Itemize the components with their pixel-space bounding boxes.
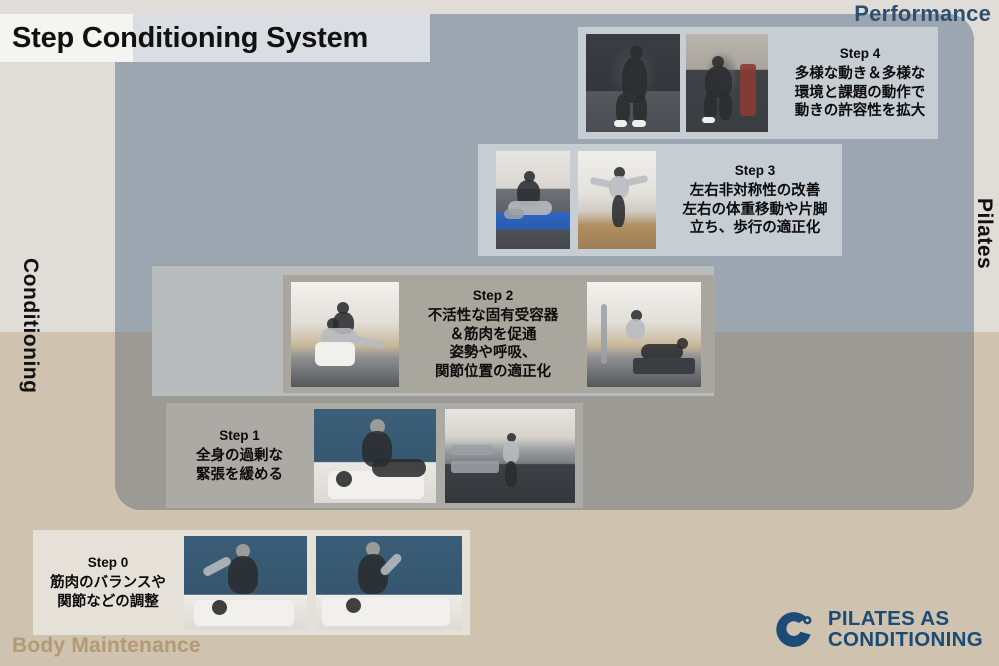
brand-logo: PILATES AS CONDITIONING bbox=[771, 606, 983, 652]
photo-step3-1 bbox=[496, 151, 570, 249]
step3-description: 左右非対称性の改善 左右の体重移動や片脚 立ち、歩行の適正化 bbox=[670, 182, 840, 238]
logo-line-1: PILATES AS bbox=[828, 608, 983, 629]
photo-step4-2 bbox=[686, 34, 768, 132]
step2-text: Step 2 不活性な固有受容器 ＆筋肉を促通 姿勢や呼吸、 関節位置の適正化 bbox=[407, 287, 579, 381]
photo-step2-2 bbox=[587, 282, 701, 387]
step1-text: Step 1 全身の過剰な 緊張を緩める bbox=[174, 427, 305, 484]
step-panel-step3[interactable]: Step 3 左右非対称性の改善 左右の体重移動や片脚 立ち、歩行の適正化 bbox=[478, 144, 842, 256]
step2-description: 不活性な固有受容器 ＆筋肉を促通 姿勢や呼吸、 関節位置の適正化 bbox=[407, 307, 579, 381]
photo-step1-1 bbox=[314, 409, 436, 503]
step2-label: Step 2 bbox=[407, 287, 579, 304]
step4-description: 多様な動き＆多様な 環境と課題の動作で 動きの許容性を拡大 bbox=[782, 65, 938, 121]
step3-text: Step 3 左右非対称性の改善 左右の体重移動や片脚 立ち、歩行の適正化 bbox=[670, 162, 840, 238]
step0-label: Step 0 bbox=[41, 554, 175, 571]
step4-label: Step 4 bbox=[782, 45, 938, 62]
step-panel-step4[interactable]: Step 4 多様な動き＆多様な 環境と課題の動作で 動きの許容性を拡大 bbox=[578, 27, 938, 139]
step1-description: 全身の過剰な 緊張を緩める bbox=[174, 447, 305, 484]
page-title: Step Conditioning System bbox=[12, 14, 442, 62]
logo-c-mark-icon bbox=[771, 606, 817, 652]
axis-label-performance: Performance bbox=[854, 1, 991, 27]
photo-step1-2 bbox=[445, 409, 575, 503]
slide-canvas: Step Conditioning System Performance Pil… bbox=[0, 0, 999, 666]
step-panel-step2[interactable]: Step 2 不活性な固有受容器 ＆筋肉を促通 姿勢や呼吸、 関節位置の適正化 bbox=[283, 275, 715, 393]
axis-label-body-maintenance: Body Maintenance bbox=[12, 634, 201, 658]
photo-step0-1 bbox=[184, 536, 307, 630]
photo-step0-2 bbox=[316, 536, 462, 630]
step4-text: Step 4 多様な動き＆多様な 環境と課題の動作で 動きの許容性を拡大 bbox=[782, 45, 938, 121]
step-panel-step1[interactable]: Step 1 全身の過剰な 緊張を緩める bbox=[166, 403, 583, 508]
photo-step3-2 bbox=[578, 151, 656, 249]
logo-wordmark: PILATES AS CONDITIONING bbox=[828, 608, 983, 651]
step3-label: Step 3 bbox=[670, 162, 840, 179]
step-panel-step0[interactable]: Step 0 筋肉のバランスや 関節などの調整 bbox=[33, 530, 470, 635]
axis-label-conditioning: Conditioning bbox=[18, 258, 42, 393]
step0-text: Step 0 筋肉のバランスや 関節などの調整 bbox=[41, 554, 175, 611]
logo-line-2: CONDITIONING bbox=[828, 629, 983, 650]
axis-label-pilates: Pilates bbox=[972, 198, 996, 269]
photo-step2-1 bbox=[291, 282, 399, 387]
step0-description: 筋肉のバランスや 関節などの調整 bbox=[41, 574, 175, 611]
step1-label: Step 1 bbox=[174, 427, 305, 444]
photo-step4-1 bbox=[586, 34, 680, 132]
